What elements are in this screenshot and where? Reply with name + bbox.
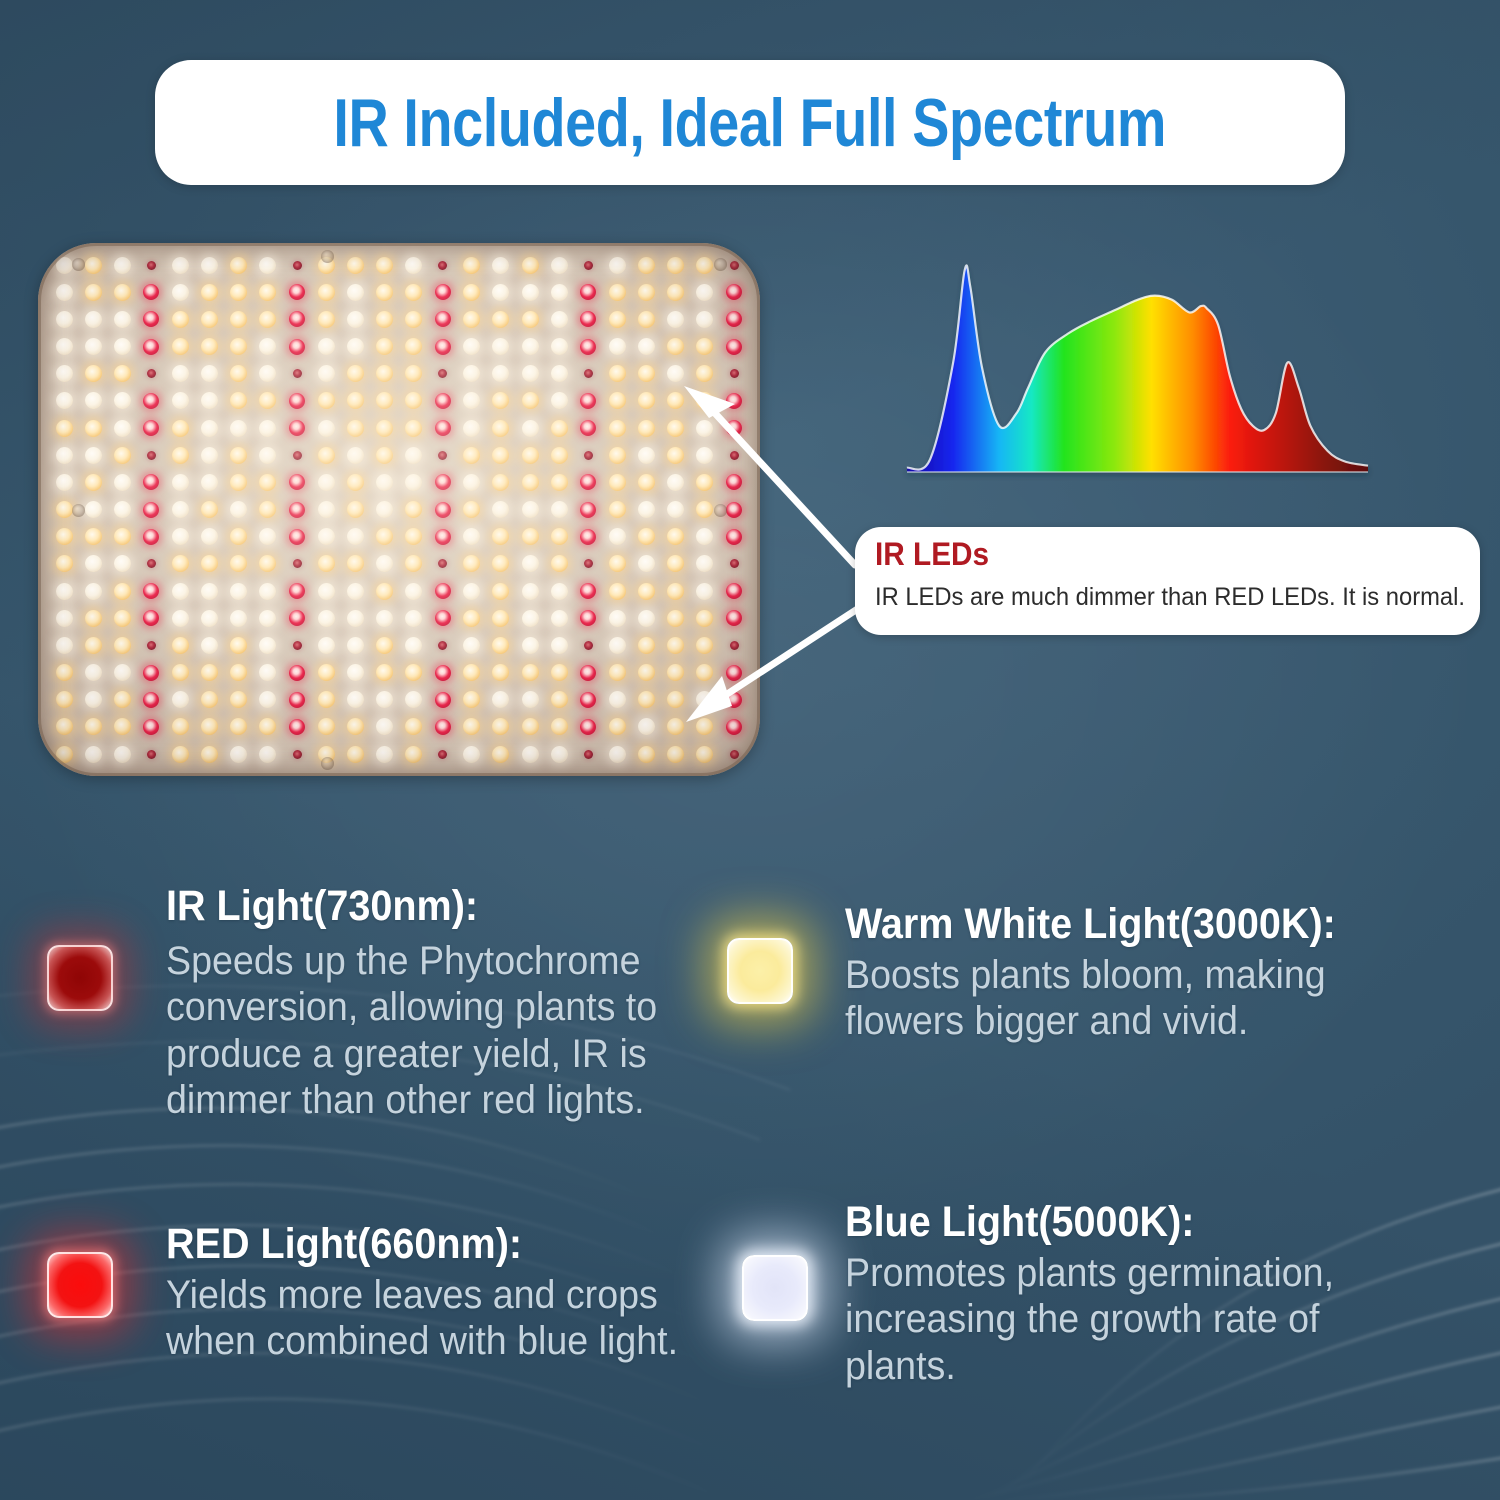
led-warm-white xyxy=(405,718,422,735)
led-ir xyxy=(584,641,593,650)
led-red xyxy=(580,502,596,518)
led-cool-white xyxy=(114,501,131,518)
led-warm-white xyxy=(609,583,626,600)
led-cool-white xyxy=(522,691,539,708)
led-ir xyxy=(438,559,447,568)
led-cool-white xyxy=(56,583,73,600)
led-warm-white xyxy=(259,284,276,301)
led-warm-white xyxy=(230,718,247,735)
led-warm-white xyxy=(259,555,276,572)
led-red xyxy=(726,339,742,355)
led-warm-white xyxy=(522,528,539,545)
led-cool-white xyxy=(201,528,218,545)
led-cool-white xyxy=(201,637,218,654)
led-cool-white xyxy=(56,284,73,301)
led-cool-white xyxy=(522,746,539,763)
led-warm-white xyxy=(492,583,509,600)
led-ir xyxy=(293,641,302,650)
led-warm-white xyxy=(551,528,568,545)
led-cool-white xyxy=(463,420,480,437)
led-cool-white xyxy=(463,365,480,382)
led-warm-white xyxy=(463,691,480,708)
led-cool-white xyxy=(230,501,247,518)
led-cool-white xyxy=(85,555,102,572)
led-cool-white xyxy=(463,583,480,600)
panel-screw xyxy=(72,504,85,517)
led-cool-white xyxy=(56,474,73,491)
led-warm-white xyxy=(85,637,102,654)
led-cool-white xyxy=(492,257,509,274)
led-red xyxy=(435,311,451,327)
led-warm-white xyxy=(696,610,713,627)
led-warm-white xyxy=(609,474,626,491)
led-red xyxy=(435,420,451,436)
led-warm-white xyxy=(492,420,509,437)
led-warm-white xyxy=(522,257,539,274)
led-red xyxy=(289,311,305,327)
led-warm-white xyxy=(638,746,655,763)
led-warm-white xyxy=(201,311,218,328)
led-cool-white xyxy=(230,746,247,763)
led-warm-white xyxy=(551,691,568,708)
led-warm-white xyxy=(696,637,713,654)
led-warm-white xyxy=(638,637,655,654)
led-red xyxy=(143,502,159,518)
led-cool-white xyxy=(347,610,364,627)
led-cool-white xyxy=(347,583,364,600)
led-cool-white xyxy=(318,338,335,355)
led-cool-white xyxy=(463,637,480,654)
led-warm-white xyxy=(696,392,713,409)
led-warm-white xyxy=(638,257,655,274)
led-cool-white xyxy=(85,691,102,708)
led-cool-white xyxy=(347,528,364,545)
feature-title-blue-light: Blue Light(5000K): xyxy=(845,1200,1415,1246)
led-warm-white xyxy=(318,311,335,328)
led-cool-white xyxy=(201,447,218,464)
led-warm-white xyxy=(172,420,189,437)
led-warm-white xyxy=(172,637,189,654)
led-cool-white xyxy=(259,610,276,627)
led-cool-white xyxy=(609,257,626,274)
led-warm-white xyxy=(114,447,131,464)
led-warm-white xyxy=(696,664,713,681)
led-warm-white xyxy=(56,528,73,545)
led-red xyxy=(726,529,742,545)
led-cool-white xyxy=(230,583,247,600)
led-red xyxy=(289,719,305,735)
led-ir xyxy=(584,369,593,378)
led-red xyxy=(726,474,742,490)
led-cool-white xyxy=(463,392,480,409)
led-warm-white xyxy=(667,528,684,545)
led-cool-white xyxy=(318,637,335,654)
led-warm-white xyxy=(230,338,247,355)
led-red xyxy=(580,692,596,708)
led-warm-white xyxy=(172,746,189,763)
led-red xyxy=(289,529,305,545)
led-warm-white xyxy=(609,447,626,464)
led-cool-white xyxy=(259,583,276,600)
led-cool-white xyxy=(318,365,335,382)
led-ir xyxy=(730,641,739,650)
led-warm-white xyxy=(667,447,684,464)
led-cool-white xyxy=(492,338,509,355)
led-warm-white xyxy=(638,420,655,437)
led-cool-white xyxy=(551,583,568,600)
led-cool-white xyxy=(347,447,364,464)
led-warm-white xyxy=(492,528,509,545)
led-cool-white xyxy=(56,365,73,382)
led-cool-white xyxy=(230,610,247,627)
led-warm-white xyxy=(522,718,539,735)
led-cool-white xyxy=(522,637,539,654)
led-ir xyxy=(438,641,447,650)
led-red xyxy=(580,583,596,599)
led-warm-white xyxy=(259,501,276,518)
led-cool-white xyxy=(376,691,393,708)
led-cool-white xyxy=(522,610,539,627)
led-ir xyxy=(147,559,156,568)
led-warm-white xyxy=(230,284,247,301)
led-warm-white xyxy=(347,718,364,735)
led-cool-white xyxy=(376,718,393,735)
led-ir xyxy=(438,750,447,759)
led-warm-white xyxy=(347,257,364,274)
led-cool-white xyxy=(85,392,102,409)
led-cool-white xyxy=(201,583,218,600)
led-warm-white xyxy=(492,447,509,464)
led-warm-white xyxy=(347,746,364,763)
led-warm-white xyxy=(318,392,335,409)
led-cool-white xyxy=(667,501,684,518)
led-red xyxy=(580,420,596,436)
led-cool-white xyxy=(259,691,276,708)
led-warm-white xyxy=(609,365,626,382)
led-cool-white xyxy=(201,420,218,437)
led-cool-white xyxy=(492,691,509,708)
led-ir xyxy=(584,451,593,460)
led-cool-white xyxy=(318,420,335,437)
led-ir xyxy=(730,750,739,759)
led-cool-white xyxy=(492,365,509,382)
led-warm-white xyxy=(551,447,568,464)
led-warm-white xyxy=(347,392,364,409)
led-warm-white xyxy=(347,420,364,437)
led-warm-white xyxy=(376,284,393,301)
led-grow-light-panel xyxy=(38,243,760,776)
led-ir xyxy=(147,750,156,759)
led-warm-white xyxy=(318,284,335,301)
led-cool-white xyxy=(172,257,189,274)
feature-body-warm-white-light: Boosts plants bloom, making flowers bigg… xyxy=(845,952,1381,1045)
led-cool-white xyxy=(696,447,713,464)
led-cool-white xyxy=(172,691,189,708)
infographic-root: IR Included, Ideal Full Spectrum xyxy=(0,0,1500,1500)
led-warm-white xyxy=(492,664,509,681)
led-warm-white xyxy=(230,664,247,681)
led-red xyxy=(580,719,596,735)
led-warm-white xyxy=(172,664,189,681)
panel-screw xyxy=(321,757,334,770)
led-cool-white xyxy=(347,338,364,355)
feature-body-blue-light: Promotes plants germination, increasing … xyxy=(845,1250,1400,1389)
led-red xyxy=(143,583,159,599)
led-warm-white xyxy=(85,420,102,437)
led-warm-white xyxy=(405,311,422,328)
led-warm-white xyxy=(405,528,422,545)
led-cool-white xyxy=(551,257,568,274)
led-warm-white xyxy=(405,365,422,382)
led-warm-white xyxy=(172,338,189,355)
led-warm-white xyxy=(667,691,684,708)
led-cool-white xyxy=(609,691,626,708)
led-cool-white xyxy=(172,284,189,301)
spectrum-area xyxy=(907,265,1368,472)
led-cool-white xyxy=(318,610,335,627)
led-warm-white xyxy=(85,365,102,382)
led-cool-white xyxy=(551,365,568,382)
led-warm-white xyxy=(376,392,393,409)
led-warm-white xyxy=(56,691,73,708)
led-warm-white xyxy=(405,392,422,409)
led-warm-white xyxy=(114,610,131,627)
led-cool-white xyxy=(609,610,626,627)
led-warm-white xyxy=(667,718,684,735)
led-cool-white xyxy=(551,637,568,654)
led-warm-white xyxy=(230,691,247,708)
led-warm-white xyxy=(463,718,480,735)
led-warm-white xyxy=(463,311,480,328)
led-warm-white xyxy=(56,501,73,518)
led-red xyxy=(435,474,451,490)
led-cool-white xyxy=(492,284,509,301)
led-red xyxy=(580,393,596,409)
led-warm-white xyxy=(56,664,73,681)
led-cool-white xyxy=(230,420,247,437)
led-ir xyxy=(147,261,156,270)
led-ir xyxy=(293,451,302,460)
led-red xyxy=(726,610,742,626)
led-cool-white xyxy=(318,528,335,545)
led-cool-white xyxy=(85,311,102,328)
led-cool-white xyxy=(85,501,102,518)
led-cool-white xyxy=(56,637,73,654)
led-red xyxy=(289,339,305,355)
led-warm-white xyxy=(56,555,73,572)
led-warm-white xyxy=(201,718,218,735)
led-warm-white xyxy=(376,637,393,654)
led-cool-white xyxy=(638,555,655,572)
led-ir xyxy=(730,559,739,568)
led-warm-white xyxy=(696,474,713,491)
led-red xyxy=(289,393,305,409)
callout-body: IR LEDs are much dimmer than RED LEDs. I… xyxy=(875,583,1465,612)
led-cool-white xyxy=(609,637,626,654)
led-red xyxy=(580,610,596,626)
led-cool-white xyxy=(667,474,684,491)
led-warm-white xyxy=(667,392,684,409)
led-cool-white xyxy=(114,664,131,681)
led-warm-white xyxy=(405,420,422,437)
led-warm-white xyxy=(201,664,218,681)
led-warm-white xyxy=(201,555,218,572)
led-cool-white xyxy=(376,610,393,627)
led-cool-white xyxy=(696,420,713,437)
led-warm-white xyxy=(201,338,218,355)
led-warm-white xyxy=(696,501,713,518)
led-warm-white xyxy=(376,583,393,600)
led-warm-white xyxy=(230,447,247,464)
led-cool-white xyxy=(347,284,364,301)
led-cool-white xyxy=(638,338,655,355)
led-red xyxy=(726,311,742,327)
led-cool-white xyxy=(318,474,335,491)
led-cool-white xyxy=(667,311,684,328)
led-ir xyxy=(584,750,593,759)
led-cool-white xyxy=(376,555,393,572)
led-warm-white xyxy=(230,392,247,409)
swatch-red-light xyxy=(47,1252,113,1318)
led-warm-white xyxy=(463,501,480,518)
led-red xyxy=(726,420,742,436)
led-cool-white xyxy=(114,392,131,409)
led-warm-white xyxy=(492,610,509,627)
led-cool-white xyxy=(609,746,626,763)
led-warm-white xyxy=(551,718,568,735)
led-warm-white xyxy=(347,474,364,491)
led-warm-white xyxy=(347,555,364,572)
led-warm-white xyxy=(172,555,189,572)
swatch-ir-light xyxy=(47,945,113,1011)
led-cool-white xyxy=(259,338,276,355)
ir-leds-callout: IR LEDs IR LEDs are much dimmer than RED… xyxy=(855,527,1480,635)
led-red xyxy=(143,665,159,681)
led-cool-white xyxy=(201,474,218,491)
led-red xyxy=(289,692,305,708)
led-warm-white xyxy=(376,311,393,328)
led-cool-white xyxy=(638,718,655,735)
led-cool-white xyxy=(259,420,276,437)
led-warm-white xyxy=(463,284,480,301)
led-cool-white xyxy=(56,257,73,274)
led-cool-white xyxy=(667,365,684,382)
led-cool-white xyxy=(114,257,131,274)
led-cool-white xyxy=(114,474,131,491)
led-warm-white xyxy=(85,257,102,274)
led-warm-white xyxy=(463,555,480,572)
led-warm-white xyxy=(318,718,335,735)
led-red xyxy=(435,393,451,409)
led-cool-white xyxy=(347,311,364,328)
led-warm-white xyxy=(492,555,509,572)
led-cool-white xyxy=(551,338,568,355)
led-red xyxy=(143,529,159,545)
led-cool-white xyxy=(376,474,393,491)
led-warm-white xyxy=(667,583,684,600)
led-warm-white xyxy=(667,338,684,355)
led-red xyxy=(143,393,159,409)
led-cool-white xyxy=(56,447,73,464)
led-red xyxy=(289,474,305,490)
led-red xyxy=(435,665,451,681)
led-warm-white xyxy=(492,718,509,735)
led-red xyxy=(580,529,596,545)
led-warm-white xyxy=(230,311,247,328)
led-warm-white xyxy=(492,746,509,763)
led-red xyxy=(435,529,451,545)
led-warm-white xyxy=(551,555,568,572)
led-warm-white xyxy=(56,718,73,735)
led-cool-white xyxy=(85,746,102,763)
led-warm-white xyxy=(492,392,509,409)
led-warm-white xyxy=(405,746,422,763)
led-cool-white xyxy=(551,392,568,409)
led-warm-white xyxy=(609,555,626,572)
led-warm-white xyxy=(638,311,655,328)
led-warm-white xyxy=(201,501,218,518)
led-warm-white xyxy=(405,284,422,301)
led-cool-white xyxy=(463,746,480,763)
led-cool-white xyxy=(172,392,189,409)
led-cool-white xyxy=(405,447,422,464)
led-ir xyxy=(293,750,302,759)
led-red xyxy=(435,583,451,599)
led-cool-white xyxy=(347,691,364,708)
led-cool-white xyxy=(201,365,218,382)
led-cool-white xyxy=(696,555,713,572)
led-red xyxy=(726,284,742,300)
led-red xyxy=(435,339,451,355)
led-red xyxy=(580,284,596,300)
led-red xyxy=(143,610,159,626)
led-cool-white xyxy=(696,528,713,545)
led-red xyxy=(289,610,305,626)
led-warm-white xyxy=(230,528,247,545)
led-warm-white xyxy=(85,284,102,301)
led-warm-white xyxy=(696,718,713,735)
led-red xyxy=(726,692,742,708)
led-cool-white xyxy=(638,501,655,518)
led-warm-white xyxy=(667,746,684,763)
led-cool-white xyxy=(172,474,189,491)
led-cool-white xyxy=(172,610,189,627)
headline-banner: IR Included, Ideal Full Spectrum xyxy=(155,60,1345,185)
led-cool-white xyxy=(405,474,422,491)
led-red xyxy=(143,474,159,490)
led-cool-white xyxy=(114,555,131,572)
led-cool-white xyxy=(347,664,364,681)
led-ir xyxy=(293,261,302,270)
led-ir xyxy=(730,261,739,270)
led-warm-white xyxy=(172,311,189,328)
led-warm-white xyxy=(667,637,684,654)
led-warm-white xyxy=(667,610,684,627)
led-red xyxy=(580,311,596,327)
led-red xyxy=(580,665,596,681)
led-warm-white xyxy=(376,528,393,545)
led-warm-white xyxy=(376,664,393,681)
led-warm-white xyxy=(259,474,276,491)
led-cool-white xyxy=(172,583,189,600)
led-cool-white xyxy=(522,501,539,518)
led-cool-white xyxy=(85,338,102,355)
led-ir xyxy=(147,641,156,650)
led-warm-white xyxy=(609,718,626,735)
led-warm-white xyxy=(85,718,102,735)
panel-screw xyxy=(714,504,727,517)
led-cool-white xyxy=(522,338,539,355)
